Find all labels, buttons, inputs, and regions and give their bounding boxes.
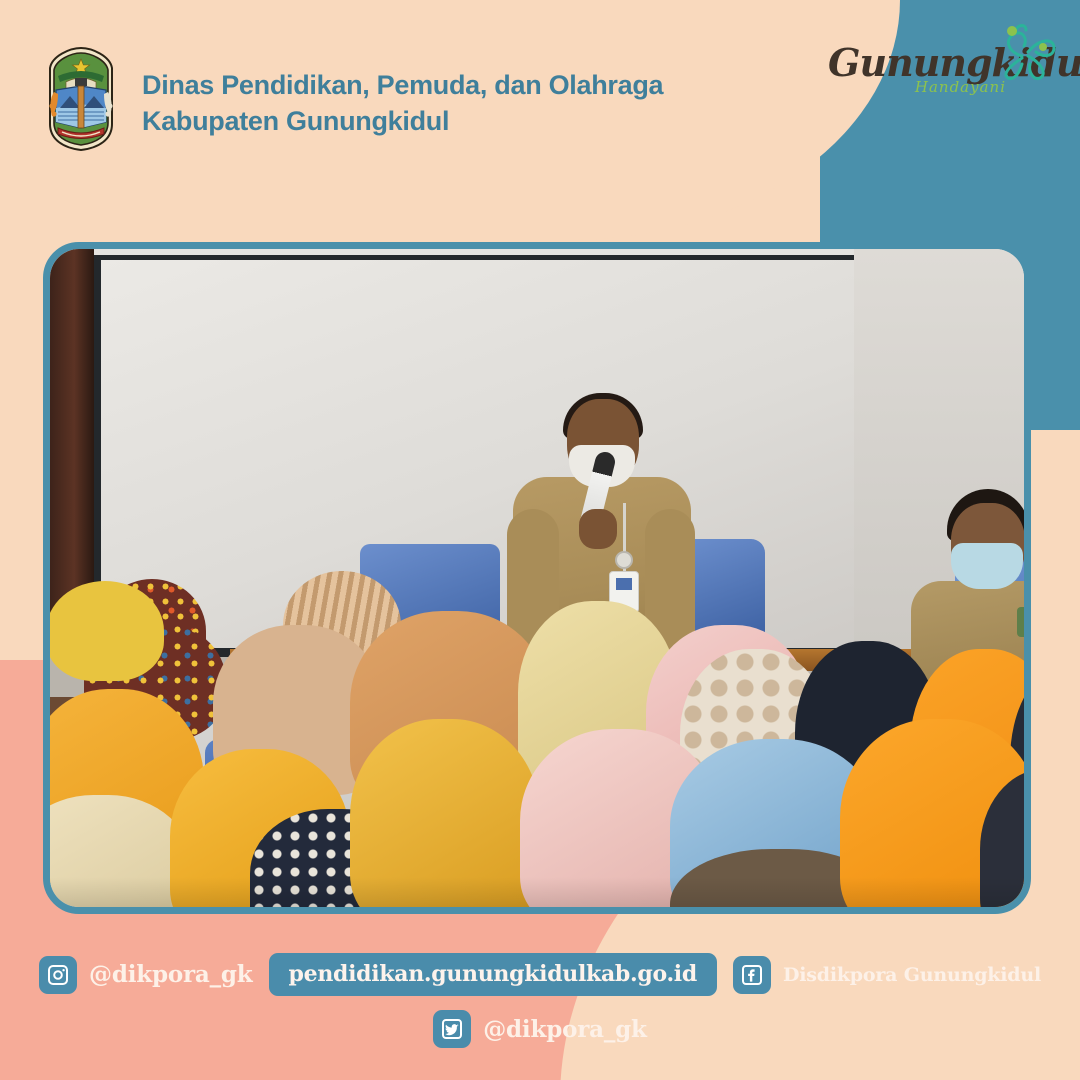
header: Dinas Pendidikan, Pemuda, dan Olahraga K…	[42, 46, 663, 152]
instagram-handle: @dikpora_gk	[89, 961, 253, 988]
page-title: Dinas Pendidikan, Pemuda, dan Olahraga K…	[142, 46, 663, 139]
batik-flourish-icon	[992, 22, 1064, 84]
facebook-link[interactable]: Disdikpora Gunungkidul	[733, 956, 1041, 994]
gunungkidul-brand-logo: Gunungkidul Handayani	[828, 44, 1058, 124]
footer-row-secondary: @dikpora_gk	[0, 1010, 1080, 1048]
instagram-link[interactable]: @dikpora_gk	[39, 956, 253, 994]
gunungkidul-coat-of-arms-icon	[42, 46, 120, 152]
website-url-button[interactable]: pendidikan.gunungkidulkab.go.id	[269, 953, 717, 996]
audience-member	[50, 581, 164, 681]
facebook-page-name: Disdikpora Gunungkidul	[783, 964, 1041, 986]
footer: @dikpora_gk pendidikan.gunungkidulkab.go…	[0, 953, 1080, 1062]
instagram-icon[interactable]	[39, 956, 77, 994]
event-photo-frame	[43, 242, 1031, 914]
twitter-link[interactable]: @dikpora_gk	[433, 1010, 647, 1048]
twitter-icon[interactable]	[433, 1010, 471, 1048]
event-photo	[50, 249, 1024, 907]
facebook-icon[interactable]	[733, 956, 771, 994]
footer-row-primary: @dikpora_gk pendidikan.gunungkidulkab.go…	[0, 953, 1080, 996]
poster-canvas: Dinas Pendidikan, Pemuda, dan Olahraga K…	[0, 0, 1080, 1080]
twitter-handle: @dikpora_gk	[483, 1016, 647, 1043]
